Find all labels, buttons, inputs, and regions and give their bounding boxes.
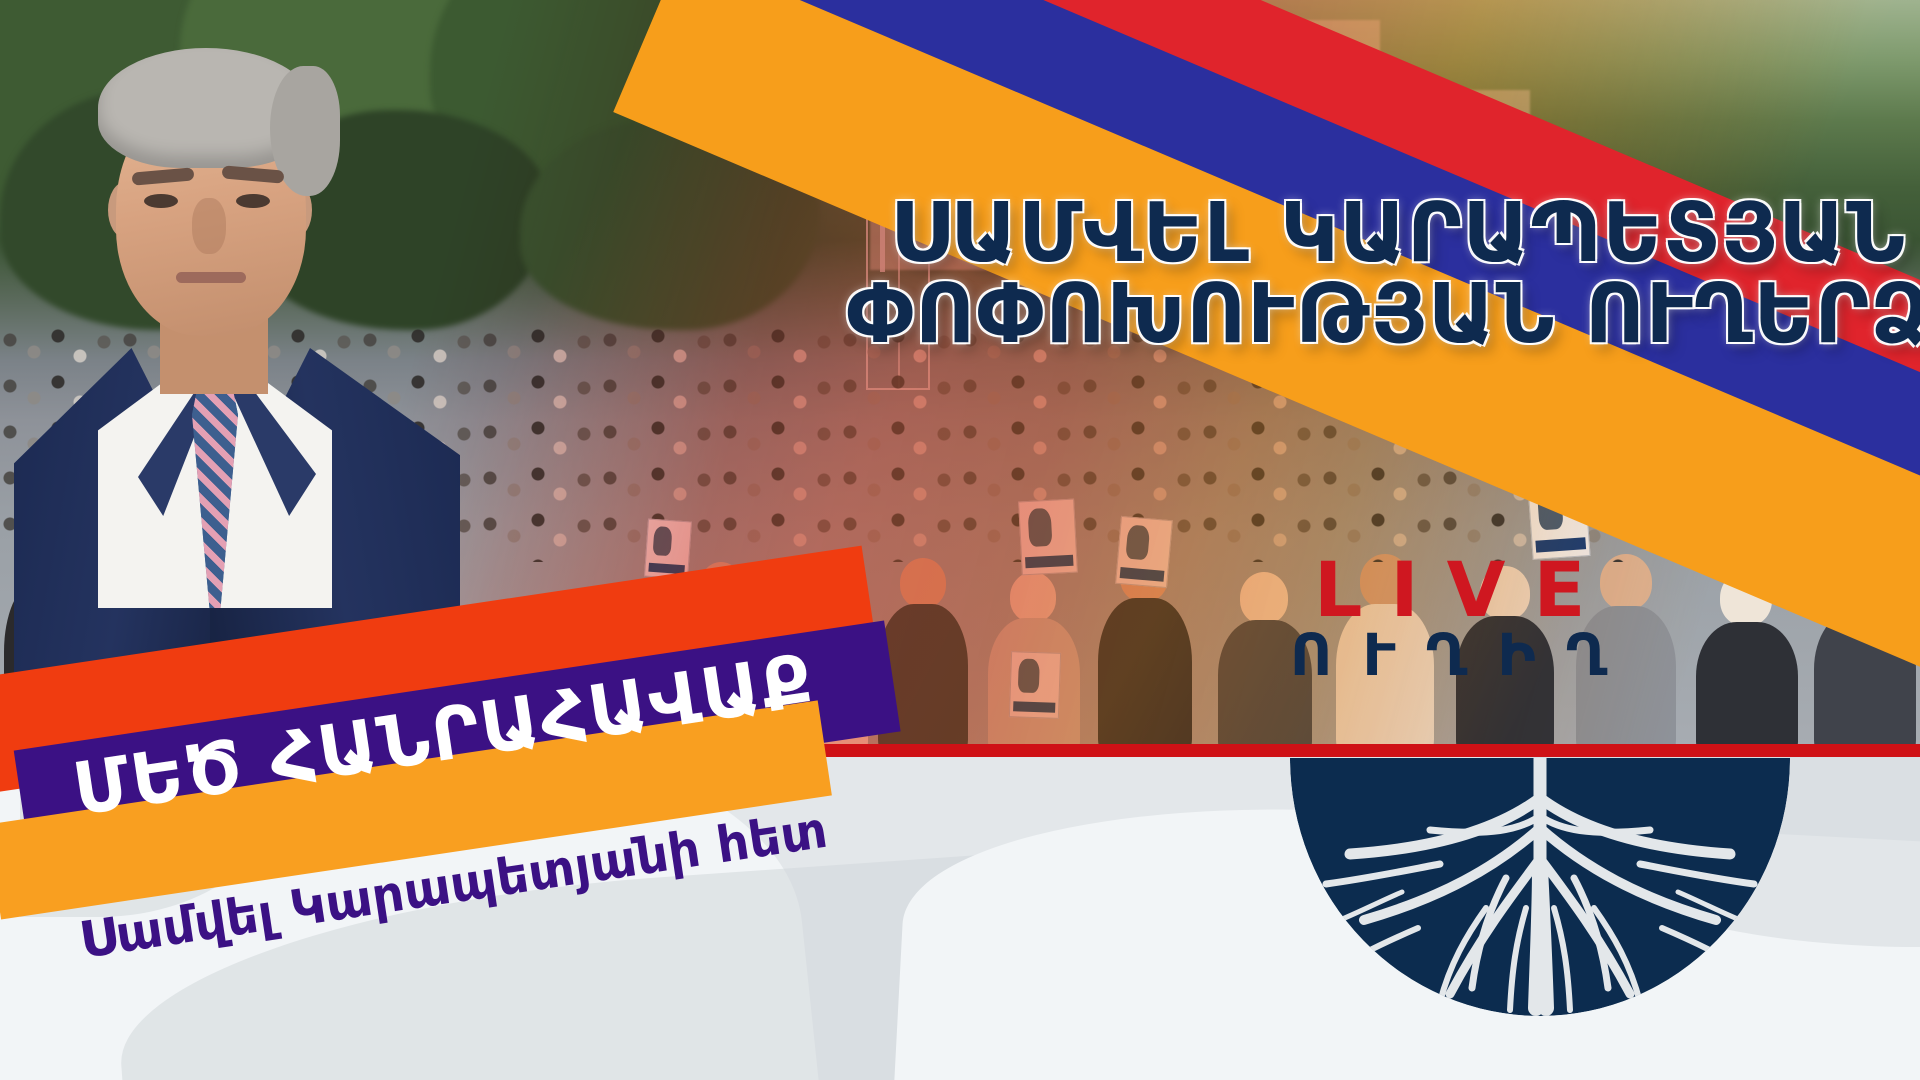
root-tree-emblem <box>1290 758 1790 1016</box>
eye-left <box>144 194 178 208</box>
title-line-1: ՍԱՄՎԵԼ ԿԱՐԱՊԵՏՅԱՆ <box>846 196 1906 271</box>
nose <box>192 198 226 254</box>
live-label: LIVE <box>1290 556 1637 624</box>
event-banner: ՄԵԾ ՀԱՆՐԱՀԱՎԱՔ Սամվել Կարապետյանի հետ <box>0 560 970 980</box>
title-line-2: ՓՈՓՈԽՈՒԹՅԱՆ ՈՒՂԵՐՁ <box>846 277 1906 352</box>
live-label-armenian: ՈՒՂԻՂ <box>1290 626 1637 684</box>
live-badge: LIVE ՈՒՂԻՂ <box>1290 556 1637 684</box>
thumbnail-canvas: ՍԱՄՎԵԼ ԿԱՐԱՊԵՏՅԱՆ ՓՈՓՈԽՈՒԹՅԱՆ ՈՒՂԵՐՁ LIV… <box>0 0 1920 1080</box>
main-title: ՍԱՄՎԵԼ ԿԱՐԱՊԵՏՅԱՆ ՓՈՓՈԽՈՒԹՅԱՆ ՈՒՂԵՐՁ <box>846 196 1906 353</box>
eye-right <box>236 194 270 208</box>
mouth <box>176 272 246 283</box>
